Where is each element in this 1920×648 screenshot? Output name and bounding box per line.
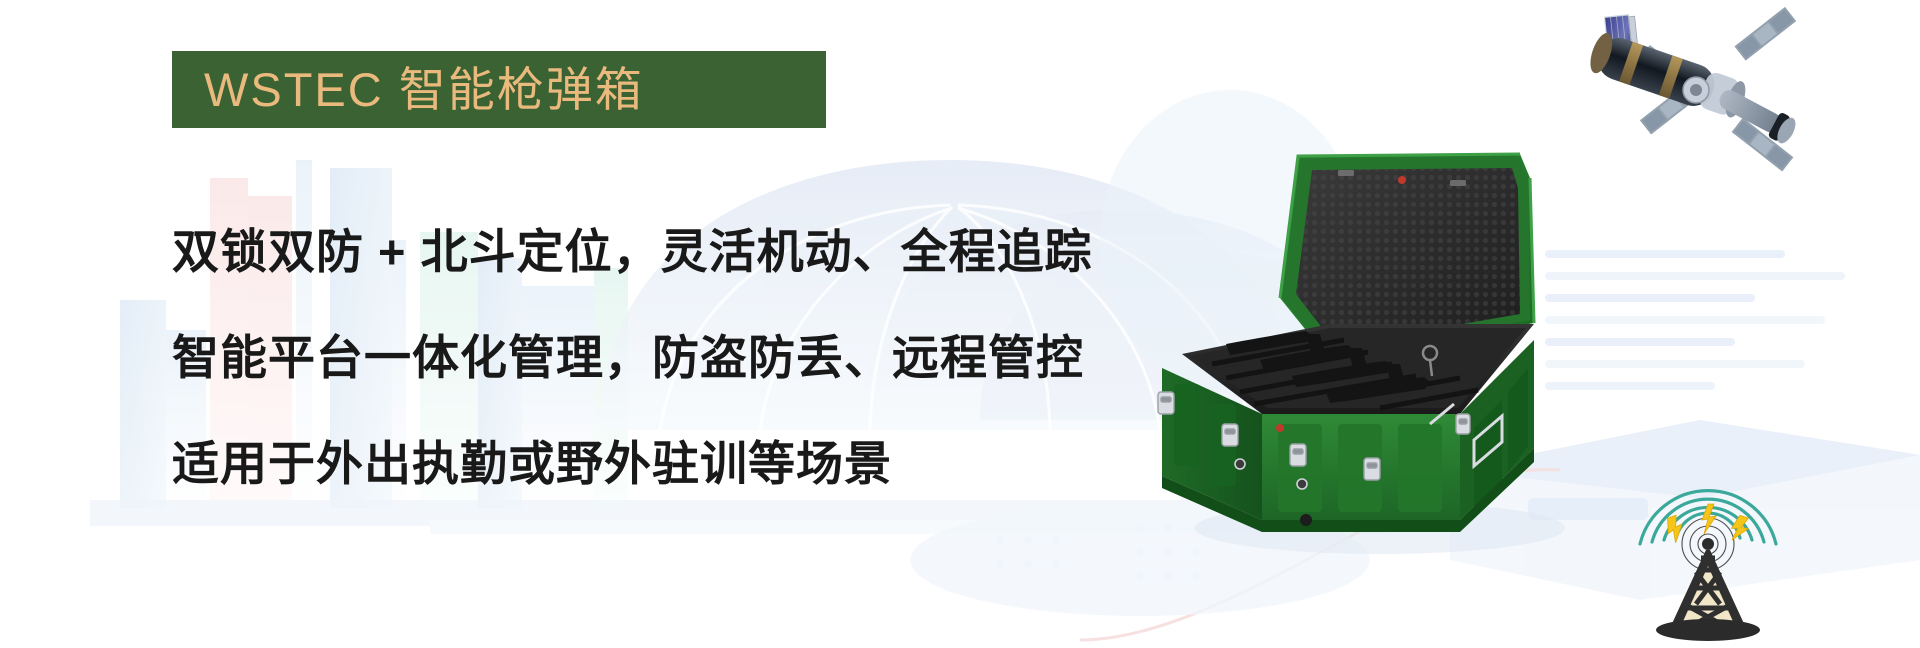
feature-line-2: 智能平台一体化管理，防盗防丢、远程管控 (172, 334, 1093, 381)
feature-list: 双锁双防 + 北斗定位，灵活机动、全程追踪 智能平台一体化管理，防盗防丢、远程管… (172, 228, 1093, 487)
satellite-figure (1578, 4, 1858, 174)
page-title: WSTEC 智能枪弹箱 (172, 66, 644, 113)
feature-line-1: 双锁双防 + 北斗定位，灵活机动、全程追踪 (172, 228, 1093, 275)
product-banner: WSTEC 智能枪弹箱 双锁双防 + 北斗定位，灵活机动、全程追踪 智能平台一体… (0, 0, 1920, 648)
feature-line-3: 适用于外出执勤或野外驻训等场景 (172, 440, 1093, 487)
hard-case-illustration (1130, 128, 1620, 558)
product-image-ammunition-case (1130, 128, 1620, 558)
title-plate: WSTEC 智能枪弹箱 (172, 51, 826, 128)
satellite-icon (1578, 4, 1858, 174)
case-body (1162, 324, 1534, 532)
antenna-tip (1702, 538, 1714, 550)
signal-tower-figure (1608, 438, 1808, 648)
signal-tower-icon (1608, 438, 1808, 648)
tower-mast (1656, 550, 1760, 641)
